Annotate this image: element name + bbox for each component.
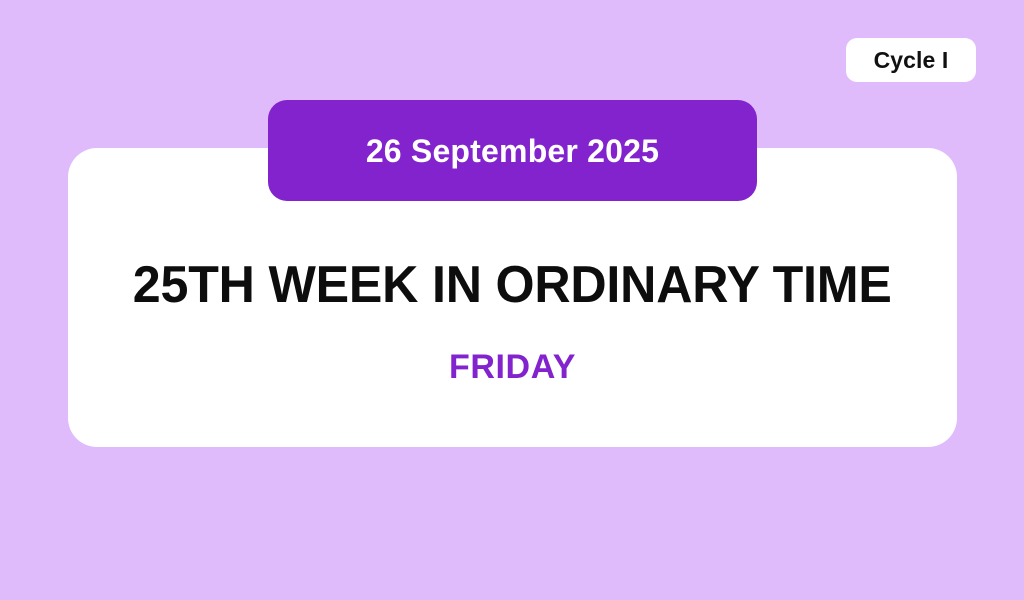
cycle-badge-label: Cycle I xyxy=(874,49,949,72)
liturgical-day-card-screen: Cycle I 26 September 2025 25th Week in O… xyxy=(0,0,1024,600)
card-text-block: 25th Week in Ordinary Time Friday xyxy=(68,201,957,447)
season-title: 25th Week in Ordinary Time xyxy=(133,258,892,312)
date-label: 26 September 2025 xyxy=(366,135,659,167)
date-banner: 26 September 2025 xyxy=(268,100,757,201)
cycle-badge: Cycle I xyxy=(846,38,976,82)
weekday-label: Friday xyxy=(449,350,576,384)
